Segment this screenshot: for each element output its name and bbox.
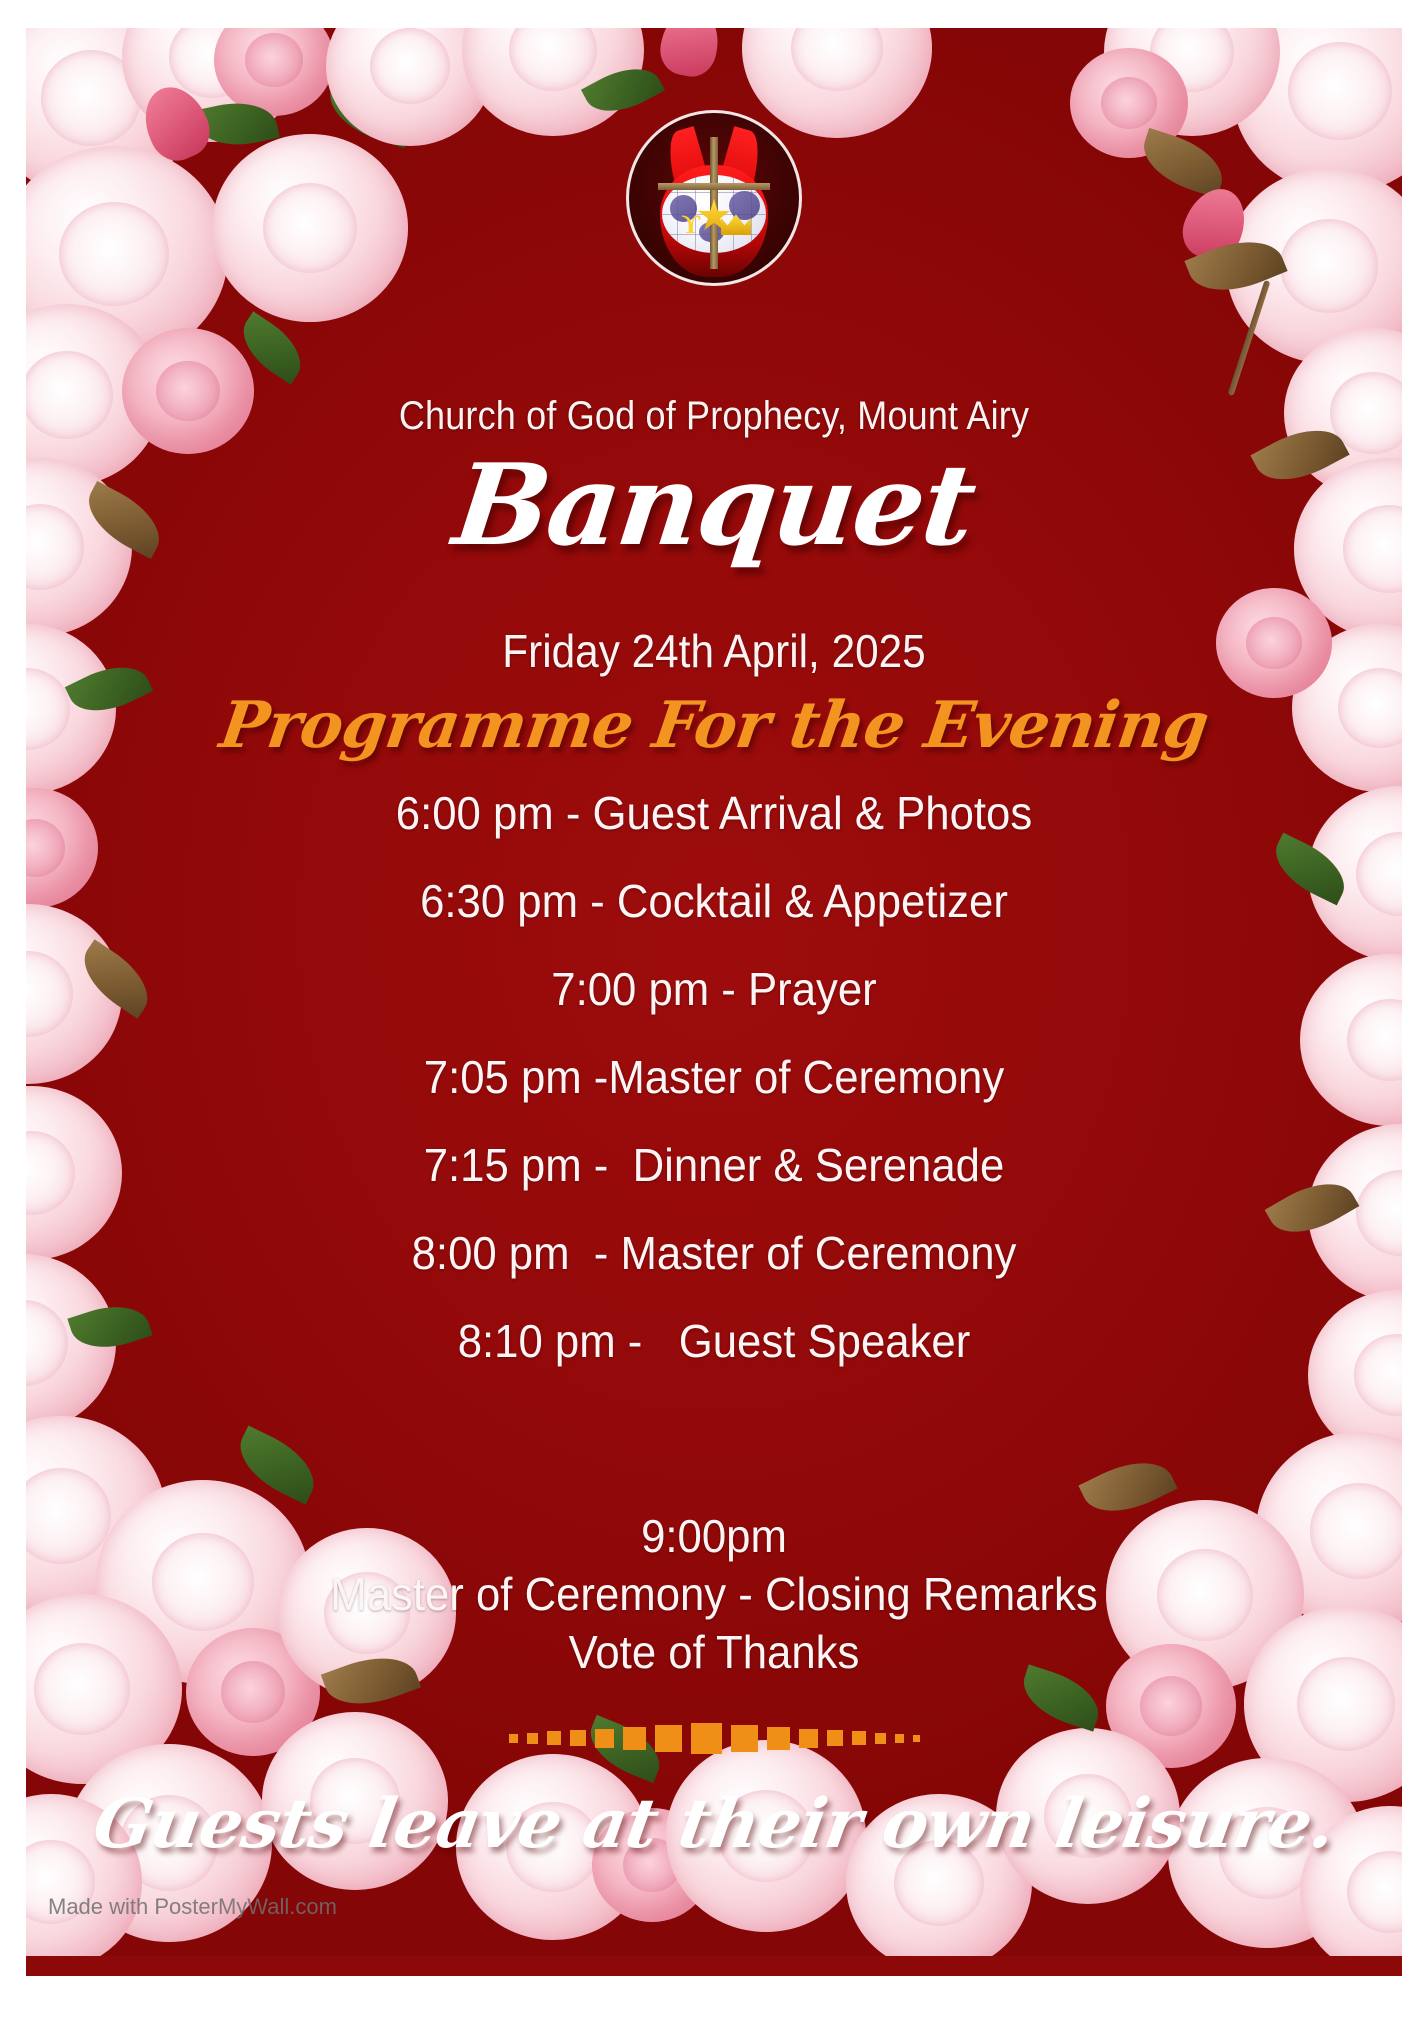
church-name: Church of God of Prophecy, Mount Airy xyxy=(95,394,1333,439)
divider-square xyxy=(895,1734,904,1743)
schedule-item: 7:15 pm - Dinner & Serenade xyxy=(60,1142,1367,1188)
divider-square xyxy=(655,1725,682,1752)
banquet-poster: ϒ Church of God of Prophecy, Mount Airy … xyxy=(26,28,1402,1976)
divider-square xyxy=(852,1731,866,1745)
schedule-item: 8:00 pm - Master of Ceremony xyxy=(60,1230,1367,1276)
poster-title: Banquet xyxy=(26,442,1402,571)
closing-line: Master of Ceremony - Closing Remarks xyxy=(60,1566,1367,1624)
divider-square xyxy=(509,1734,518,1743)
cross-bar-icon xyxy=(658,183,770,190)
divider-square xyxy=(691,1723,722,1754)
programme-heading: Programme For the Evening xyxy=(26,688,1402,763)
divider-square xyxy=(799,1729,818,1748)
square-divider xyxy=(26,1718,1402,1758)
schedule-item: 7:05 pm -Master of Ceremony xyxy=(60,1054,1367,1100)
divider-square xyxy=(875,1733,886,1744)
divider-square xyxy=(527,1733,538,1744)
church-logo: ϒ xyxy=(626,110,802,286)
divider-square xyxy=(623,1727,646,1750)
closing-block: 9:00pmMaster of Ceremony - Closing Remar… xyxy=(26,1508,1402,1682)
closing-line: 9:00pm xyxy=(60,1508,1367,1566)
schedule-item: 6:00 pm - Guest Arrival & Photos xyxy=(60,790,1367,836)
schedule-item: 7:00 pm - Prayer xyxy=(60,966,1367,1012)
logo-circle: ϒ xyxy=(626,110,802,286)
divider-square xyxy=(913,1735,920,1742)
bottom-bar xyxy=(26,1956,1402,1976)
divider-square xyxy=(731,1725,758,1752)
schedule-item: 6:30 pm - Cocktail & Appetizer xyxy=(60,878,1367,924)
divider-square xyxy=(547,1731,561,1745)
closing-line: Vote of Thanks xyxy=(60,1624,1367,1682)
tau-icon: ϒ xyxy=(677,213,705,237)
schedule-item: 8:10 pm - Guest Speaker xyxy=(60,1318,1367,1364)
divider-square xyxy=(827,1730,843,1746)
schedule-list: 6:00 pm - Guest Arrival & Photos6:30 pm … xyxy=(26,790,1402,1406)
event-date: Friday 24th April, 2025 xyxy=(81,624,1347,678)
divider-square xyxy=(595,1729,614,1748)
postermywall-watermark: Made with PosterMyWall.com xyxy=(48,1894,337,1920)
divider-square xyxy=(570,1730,586,1746)
divider-square xyxy=(767,1727,790,1750)
leisure-note: Guests leave at their own leisure. xyxy=(26,1784,1402,1864)
